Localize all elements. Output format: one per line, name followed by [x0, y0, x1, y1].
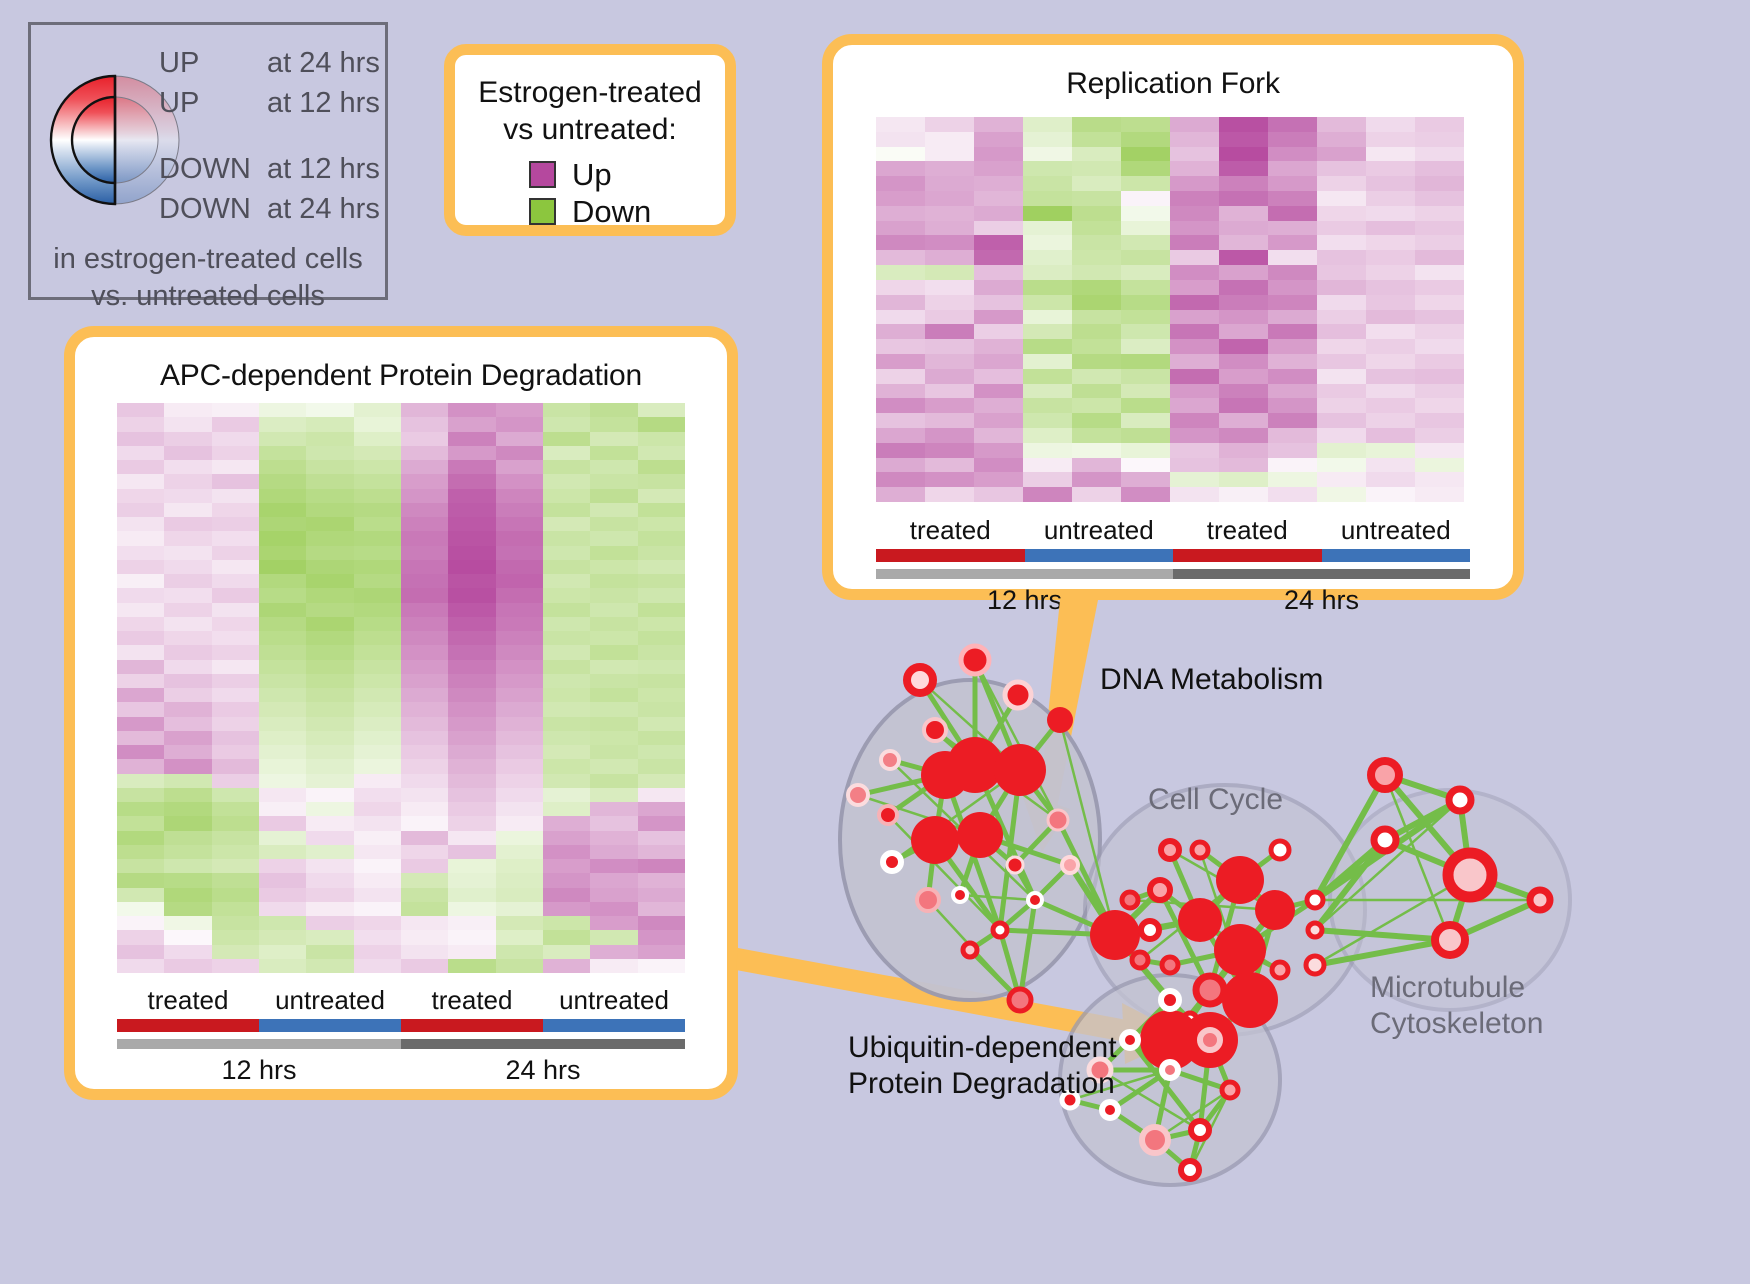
- heatmap-cell: [164, 446, 211, 460]
- heatmap-cell: [259, 717, 306, 731]
- heatmap-cell: [1415, 458, 1464, 473]
- heatmap-cell: [543, 517, 590, 531]
- heatmap-cell: [638, 702, 685, 716]
- heatmap-cell: [638, 902, 685, 916]
- heatmap-cell: [259, 574, 306, 588]
- heatmap-cell: [1219, 191, 1268, 206]
- heatmap-cell: [925, 472, 974, 487]
- heatmap-cell: [259, 674, 306, 688]
- heatmap-cell: [1366, 398, 1415, 413]
- heatmap-cell: [1072, 458, 1121, 473]
- heatmap-cell: [306, 930, 353, 944]
- heatmap-cell: [1268, 428, 1317, 443]
- heatmap-cell: [354, 902, 401, 916]
- heatmap-cell: [496, 802, 543, 816]
- heatmap-cell: [306, 802, 353, 816]
- heatmap-cell: [164, 460, 211, 474]
- heatmap-cell: [1072, 369, 1121, 384]
- heatmap-cell: [354, 774, 401, 788]
- heatmap-cell: [1219, 354, 1268, 369]
- heatmap-cell: [543, 417, 590, 431]
- heatmap-cell: [354, 959, 401, 973]
- heatmap-cell: [1121, 384, 1170, 399]
- heatmap-cell: [448, 702, 495, 716]
- heatmap-cell: [1170, 147, 1219, 162]
- heatmap-cell: [306, 816, 353, 830]
- heatmap-cell: [974, 235, 1023, 250]
- heatmap-cell: [1023, 280, 1072, 295]
- heatmap-cell: [876, 132, 925, 147]
- heatmap-cell: [448, 474, 495, 488]
- heatmap-cell: [117, 702, 164, 716]
- heatmap-cell: [354, 446, 401, 460]
- heatmap-cell: [448, 617, 495, 631]
- heatmap-cell: [212, 802, 259, 816]
- heatmap-cell: [1023, 472, 1072, 487]
- heatmap-cell: [306, 531, 353, 545]
- heatmap-cell: [354, 845, 401, 859]
- heatmap-cell: [117, 417, 164, 431]
- heatmap-cell: [590, 845, 637, 859]
- heatmap-cell: [212, 959, 259, 973]
- heatmap-cell: [543, 688, 590, 702]
- heatmap-cell: [590, 717, 637, 731]
- heatmap-cell: [1317, 280, 1366, 295]
- timepoint-color-bar: [876, 569, 1173, 579]
- heatmap-cell: [1170, 458, 1219, 473]
- heatmap-cell: [496, 574, 543, 588]
- heatmap-cell: [496, 859, 543, 873]
- heatmap-cell: [925, 235, 974, 250]
- heatmap-cell: [638, 916, 685, 930]
- up-color-swatch: [529, 161, 556, 188]
- heatmap-cell: [401, 460, 448, 474]
- heatmap-cell: [496, 759, 543, 773]
- heatmap-cell: [638, 816, 685, 830]
- heatmap-cell: [259, 446, 306, 460]
- heatmap-cell: [1121, 221, 1170, 236]
- heatmap-cell: [212, 645, 259, 659]
- heatmap-cell: [1121, 191, 1170, 206]
- heatmap-cell: [1219, 443, 1268, 458]
- heatmap-cell: [306, 645, 353, 659]
- heatmap-cell: [1023, 132, 1072, 147]
- heatmap-cell: [496, 916, 543, 930]
- heatmap-cell: [448, 717, 495, 731]
- heatmap-cell: [1268, 235, 1317, 250]
- heatmap-cell: [496, 717, 543, 731]
- heatmap-cell: [925, 369, 974, 384]
- heatmap-cell: [590, 831, 637, 845]
- heatmap-cell: [1268, 384, 1317, 399]
- heatmap-cell: [1415, 161, 1464, 176]
- heatmap-cell: [496, 774, 543, 788]
- heatmap-cell: [401, 517, 448, 531]
- heatmap-cell: [1366, 235, 1415, 250]
- heatmap-cell: [448, 859, 495, 873]
- heatmap-cell: [401, 560, 448, 574]
- heatmap-cell: [1268, 206, 1317, 221]
- heatmap-cell: [354, 603, 401, 617]
- heatmap-cell: [354, 816, 401, 830]
- heatmap-cell: [1121, 339, 1170, 354]
- heatmap-cell: [117, 745, 164, 759]
- heatmap-cell: [306, 888, 353, 902]
- heatmap-cell: [401, 574, 448, 588]
- heatmap-cell: [1366, 132, 1415, 147]
- heatmap-cell: [496, 631, 543, 645]
- group-labels: treateduntreatedtreateduntreated: [876, 515, 1470, 546]
- heatmap-cell: [543, 816, 590, 830]
- heatmap-cell: [1121, 132, 1170, 147]
- heatmap-cell: [876, 250, 925, 265]
- heatmap-cell: [543, 759, 590, 773]
- heatmap-cell: [1268, 132, 1317, 147]
- heatmap-cell: [306, 859, 353, 873]
- legend-row-down-12: DOWN at 12 hrs: [159, 153, 389, 193]
- heatmap-cell: [925, 458, 974, 473]
- heatmap-cell: [1072, 310, 1121, 325]
- heatmap-cell: [354, 432, 401, 446]
- legend-key: UP: [159, 47, 267, 80]
- heatmap-cell: [1366, 176, 1415, 191]
- heatmap-cell: [1268, 280, 1317, 295]
- heatmap-cell: [1219, 369, 1268, 384]
- group-color-bar: [1322, 549, 1471, 562]
- heatmap-cell: [1121, 147, 1170, 162]
- heatmap-cell: [1415, 398, 1464, 413]
- heatmap-cell: [259, 702, 306, 716]
- heatmap-cell: [259, 460, 306, 474]
- heatmap-cell: [638, 460, 685, 474]
- heatmap-cell: [448, 688, 495, 702]
- heatmap-cell: [117, 546, 164, 560]
- heatmap-cell: [1415, 295, 1464, 310]
- heatmap-cell: [354, 645, 401, 659]
- legend-value: at 24 hrs: [267, 193, 380, 226]
- heatmap-cell: [543, 702, 590, 716]
- heatmap-cell: [117, 802, 164, 816]
- heatmap-cell: [212, 531, 259, 545]
- heatmap-cell: [306, 731, 353, 745]
- heatmap-cell: [117, 717, 164, 731]
- heatmap-cell: [638, 546, 685, 560]
- heatmap-cell: [448, 916, 495, 930]
- heatmap-cell: [354, 802, 401, 816]
- heatmap-cell: [401, 717, 448, 731]
- heatmap-cell: [925, 280, 974, 295]
- heatmap-cell: [401, 802, 448, 816]
- heatmap-cell: [354, 489, 401, 503]
- group-labels: treateduntreatedtreateduntreated: [117, 985, 685, 1016]
- heatmap-cell: [448, 531, 495, 545]
- heatmap-grid: [876, 117, 1464, 502]
- footer-line-2: vs. untreated cells: [31, 278, 385, 315]
- heatmap-cell: [1317, 161, 1366, 176]
- replication-fork-heatmap: [876, 117, 1464, 502]
- heatmap-cell: [1170, 472, 1219, 487]
- heatmap-cell: [1170, 191, 1219, 206]
- heatmap-cell: [1023, 117, 1072, 132]
- heatmap-cell: [1023, 324, 1072, 339]
- heatmap-cell: [638, 631, 685, 645]
- heatmap-cell: [259, 745, 306, 759]
- heatmap-cell: [354, 916, 401, 930]
- heatmap-cell: [590, 959, 637, 973]
- heatmap-cell: [354, 531, 401, 545]
- legend-value: at 12 hrs: [267, 153, 380, 186]
- timepoint-label: 24 hrs: [401, 1055, 685, 1086]
- heatmap-cell: [1219, 413, 1268, 428]
- functional-network-diagram: DNA Metabolism Cell Cycle Microtubule Cy…: [770, 600, 1750, 1279]
- heatmap-cell: [164, 888, 211, 902]
- heatmap-cell: [306, 831, 353, 845]
- heatmap-cell: [974, 310, 1023, 325]
- heatmap-cell: [401, 845, 448, 859]
- heatmap-cell: [590, 816, 637, 830]
- heatmap-cell: [1219, 458, 1268, 473]
- heatmap-cell: [496, 403, 543, 417]
- heatmap-cell: [925, 295, 974, 310]
- heatmap-cell: [925, 191, 974, 206]
- heatmap-cell: [974, 339, 1023, 354]
- heatmap-cell: [164, 945, 211, 959]
- heatmap-cell: [925, 324, 974, 339]
- heatmap-cell: [1170, 295, 1219, 310]
- heatmap-cell: [306, 489, 353, 503]
- heatmap-cell: [1317, 443, 1366, 458]
- heatmap-cell: [638, 417, 685, 431]
- heatmap-cell: [638, 645, 685, 659]
- heatmap-cell: [212, 873, 259, 887]
- heatmap-cell: [876, 339, 925, 354]
- heatmap-cell: [590, 560, 637, 574]
- heatmap-cell: [354, 945, 401, 959]
- heatmap-cell: [164, 503, 211, 517]
- heatmap-cell: [543, 873, 590, 887]
- heatmap-cell: [496, 788, 543, 802]
- heatmap-cell: [496, 930, 543, 944]
- heatmap-cell: [1219, 206, 1268, 221]
- heatmap-cell: [259, 603, 306, 617]
- heatmap-cell: [496, 888, 543, 902]
- heatmap-cell: [117, 674, 164, 688]
- updown-title-line-2: vs untreated:: [455, 112, 725, 149]
- heatmap-cell: [448, 560, 495, 574]
- heatmap-cell: [212, 788, 259, 802]
- heatmap-cell: [543, 774, 590, 788]
- updown-title-line-1: Estrogen-treated: [455, 75, 725, 112]
- heatmap-cell: [925, 310, 974, 325]
- heatmap-cell: [590, 802, 637, 816]
- heatmap-cell: [117, 859, 164, 873]
- heatmap-cell: [1219, 176, 1268, 191]
- heatmap-cell: [401, 546, 448, 560]
- heatmap-cell: [1366, 221, 1415, 236]
- heatmap-cell: [354, 745, 401, 759]
- heatmap-cell: [164, 546, 211, 560]
- heatmap-cell: [1072, 295, 1121, 310]
- heatmap-cell: [876, 354, 925, 369]
- heatmap-cell: [925, 398, 974, 413]
- heatmap-cell: [590, 859, 637, 873]
- heatmap-cell: [259, 517, 306, 531]
- heatmap-cell: [164, 831, 211, 845]
- heatmap-cell: [212, 945, 259, 959]
- heatmap-cell: [448, 503, 495, 517]
- heatmap-cell: [259, 916, 306, 930]
- heatmap-cell: [974, 161, 1023, 176]
- heatmap-cell: [1415, 176, 1464, 191]
- heatmap-cell: [1170, 265, 1219, 280]
- heatmap-cell: [543, 802, 590, 816]
- heatmap-cell: [638, 588, 685, 602]
- heatmap-cell: [543, 788, 590, 802]
- heatmap-cell: [876, 472, 925, 487]
- heatmap-cell: [354, 503, 401, 517]
- heatmap-cell: [164, 774, 211, 788]
- gradient-legend-box: UP at 24 hrs UP at 12 hrs DOWN at 12 hrs…: [28, 22, 388, 300]
- heatmap-cell: [1121, 280, 1170, 295]
- heatmap-cell: [448, 574, 495, 588]
- heatmap-cell: [543, 859, 590, 873]
- heatmap-cell: [1072, 250, 1121, 265]
- heatmap-cell: [496, 603, 543, 617]
- heatmap-cell: [259, 560, 306, 574]
- heatmap-cell: [354, 588, 401, 602]
- heatmap-cell: [1170, 443, 1219, 458]
- heatmap-cell: [1415, 250, 1464, 265]
- heatmap-cell: [164, 517, 211, 531]
- legend-spacer: [159, 127, 389, 153]
- heatmap-cell: [259, 959, 306, 973]
- heatmap-cell: [306, 403, 353, 417]
- heatmap-cell: [638, 489, 685, 503]
- heatmap-cell: [448, 432, 495, 446]
- heatmap-cell: [354, 560, 401, 574]
- heatmap-cell: [1268, 161, 1317, 176]
- heatmap-cell: [1219, 384, 1268, 399]
- heatmap-cell: [925, 443, 974, 458]
- heatmap-cell: [354, 717, 401, 731]
- heatmap-cell: [1072, 221, 1121, 236]
- heatmap-cell: [401, 432, 448, 446]
- heatmap-cell: [1170, 354, 1219, 369]
- heatmap-cell: [974, 221, 1023, 236]
- heatmap-cell: [1415, 206, 1464, 221]
- heatmap-cell: [496, 731, 543, 745]
- heatmap-cell: [543, 560, 590, 574]
- heatmap-cell: [212, 617, 259, 631]
- heatmap-cell: [117, 916, 164, 930]
- heatmap-cell: [1317, 487, 1366, 502]
- heatmap-cell: [876, 369, 925, 384]
- heatmap-cell: [212, 546, 259, 560]
- heatmap-cell: [974, 250, 1023, 265]
- heatmap-cell: [354, 731, 401, 745]
- heatmap-cell: [259, 660, 306, 674]
- heatmap-cell: [543, 831, 590, 845]
- heatmap-cell: [354, 617, 401, 631]
- heatmap-cell: [259, 474, 306, 488]
- heatmap-cell: [1072, 398, 1121, 413]
- apc-degradation-title: APC-dependent Protein Degradation: [75, 359, 727, 393]
- heatmap-cell: [496, 702, 543, 716]
- heatmap-cell: [638, 531, 685, 545]
- heatmap-cell: [1170, 117, 1219, 132]
- heatmap-cell: [925, 428, 974, 443]
- heatmap-cell: [1023, 369, 1072, 384]
- heatmap-cell: [354, 873, 401, 887]
- heatmap-cell: [354, 474, 401, 488]
- heatmap-cell: [876, 235, 925, 250]
- cluster-label-microtubule-cytoskeleton: Microtubule Cytoskeleton: [1370, 970, 1543, 1042]
- heatmap-cell: [212, 674, 259, 688]
- timepoint-color-bars: [117, 1039, 685, 1049]
- heatmap-cell: [212, 816, 259, 830]
- heatmap-cell: [974, 206, 1023, 221]
- heatmap-cell: [401, 617, 448, 631]
- heatmap-cell: [590, 731, 637, 745]
- heatmap-cell: [1317, 191, 1366, 206]
- heatmap-cell: [1366, 384, 1415, 399]
- heatmap-cell: [401, 873, 448, 887]
- heatmap-cell: [212, 489, 259, 503]
- heatmap-cell: [1170, 132, 1219, 147]
- heatmap-cell: [974, 384, 1023, 399]
- heatmap-cell: [1219, 487, 1268, 502]
- heatmap-cell: [543, 617, 590, 631]
- heatmap-cell: [1219, 295, 1268, 310]
- heatmap-cell: [117, 631, 164, 645]
- group-color-bar: [1025, 549, 1174, 562]
- heatmap-cell: [925, 176, 974, 191]
- heatmap-cell: [590, 460, 637, 474]
- heatmap-cell: [1219, 147, 1268, 162]
- heatmap-cell: [1366, 339, 1415, 354]
- heatmap-cell: [876, 384, 925, 399]
- heatmap-cell: [1268, 354, 1317, 369]
- heatmap-cell: [543, 503, 590, 517]
- heatmap-cell: [117, 759, 164, 773]
- heatmap-cell: [259, 945, 306, 959]
- heatmap-cell: [259, 417, 306, 431]
- heatmap-cell: [925, 265, 974, 280]
- heatmap-cell: [259, 617, 306, 631]
- heatmap-cell: [974, 354, 1023, 369]
- heatmap-cell: [164, 717, 211, 731]
- heatmap-cell: [1317, 310, 1366, 325]
- heatmap-cell: [1023, 339, 1072, 354]
- heatmap-cell: [1023, 413, 1072, 428]
- heatmap-cell: [496, 873, 543, 887]
- heatmap-cell: [1366, 117, 1415, 132]
- heatmap-cell: [1268, 443, 1317, 458]
- heatmap-cell: [638, 859, 685, 873]
- heatmap-cell: [1415, 384, 1464, 399]
- heatmap-cell: [1268, 191, 1317, 206]
- heatmap-cell: [1219, 221, 1268, 236]
- group-color-bar: [1173, 549, 1322, 562]
- heatmap-cell: [306, 788, 353, 802]
- heatmap-cell: [1317, 458, 1366, 473]
- timepoint-labels: 12 hrs24 hrs: [117, 1055, 685, 1086]
- group-label: treated: [117, 985, 259, 1016]
- heatmap-cell: [974, 147, 1023, 162]
- timepoint-color-bar: [401, 1039, 685, 1049]
- heatmap-cell: [590, 489, 637, 503]
- heatmap-cell: [448, 802, 495, 816]
